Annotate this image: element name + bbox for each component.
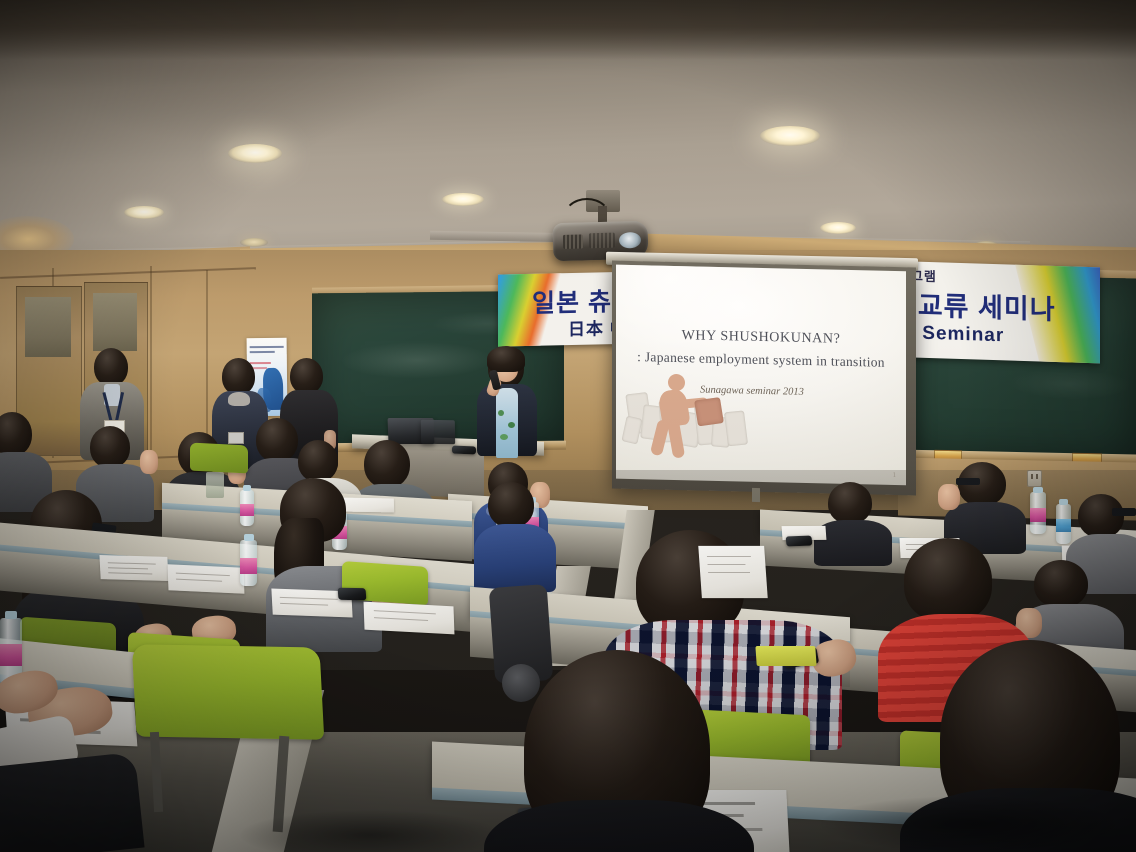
eyeglasses-icon [956, 478, 980, 485]
floor-shadow [820, 796, 1120, 852]
handout [340, 498, 394, 513]
water-bottle[interactable] [1056, 504, 1071, 544]
ceiling-light [820, 222, 856, 234]
chair[interactable] [190, 442, 248, 473]
collar [228, 392, 250, 406]
bag-wheel [502, 664, 540, 702]
handout [168, 564, 245, 594]
ceiling-light [228, 144, 282, 163]
water-bottle[interactable] [240, 490, 254, 526]
hand [938, 484, 960, 510]
eyeglasses-icon [1112, 508, 1136, 516]
door-window [25, 297, 71, 357]
handout [364, 602, 455, 635]
ceiling-light [124, 206, 164, 219]
handout [99, 555, 168, 581]
sticky-note [755, 646, 816, 666]
lectern-remote[interactable] [452, 446, 476, 455]
screen-frame: WHY SHUSHOKUNAN? : Japanese employment s… [612, 261, 916, 496]
slide-credit: Sunagawa seminar 2013 [700, 385, 804, 398]
chair-foreground[interactable] [132, 644, 325, 739]
phone[interactable] [786, 535, 813, 546]
lecture-hall-photo: 일본 츄오 日本 中 로그램 생교류 세미나 流 Seminar 3호 [0, 0, 1136, 852]
water-bottle[interactable] [1030, 492, 1046, 534]
floor-shadow [240, 810, 500, 852]
water-bottle[interactable] [240, 540, 257, 586]
slide-title: WHY SHUSHOKUNAN? [616, 327, 906, 350]
banner-right: 로그램 생교류 세미나 流 Seminar 3호 [888, 261, 1100, 364]
slide-subtitle: : Japanese employment system in transiti… [616, 349, 906, 372]
ceiling-light [442, 193, 484, 206]
ceiling-shadow-band [0, 0, 1136, 60]
phone[interactable] [338, 588, 367, 601]
door-window [93, 293, 137, 351]
person-torso-foreground [0, 752, 145, 852]
projection-screen: WHY SHUSHOKUNAN? : Japanese employment s… [616, 265, 906, 486]
wall-seam [150, 266, 152, 462]
wall-seam [206, 270, 208, 458]
cup[interactable] [206, 472, 224, 498]
ceiling-light [760, 126, 820, 146]
lectern-monitor-secondary[interactable] [421, 420, 455, 445]
handout [698, 546, 767, 598]
name-badge [228, 432, 244, 444]
hand [140, 450, 158, 474]
